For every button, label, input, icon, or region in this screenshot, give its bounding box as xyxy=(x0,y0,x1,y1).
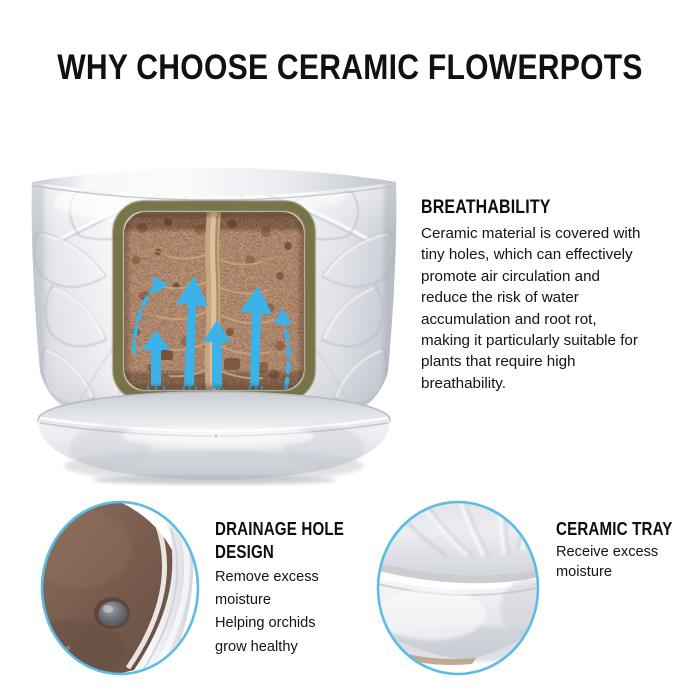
section-breathability: BREATHABILITY Ceramic material is covere… xyxy=(421,197,649,394)
drainage-body-line-2: moisture xyxy=(215,590,365,610)
drainage-body-line-3: Helping orchids xyxy=(215,613,365,633)
section-tray: CERAMIC TRAY Receive excess moisture xyxy=(556,518,698,582)
breathability-body: Ceramic material is covered with tiny ho… xyxy=(421,223,649,394)
drainage-body-line-1: Remove excess xyxy=(215,567,365,587)
callout-ceramic-tray xyxy=(372,498,544,678)
drainage-hole-glyph xyxy=(94,597,130,629)
tray-body-line-1: Receive excess xyxy=(556,542,698,562)
section-drainage: DRAINAGE HOLE DESIGN Remove excess moist… xyxy=(215,518,365,657)
tray-body-line-2: moisture xyxy=(556,562,698,582)
soil-cutaway-window xyxy=(118,206,310,396)
drainage-body-line-4: grow healthy xyxy=(215,637,365,657)
drainage-heading: DRAINAGE HOLE DESIGN xyxy=(215,518,365,564)
tray-heading: CERAMIC TRAY xyxy=(556,518,675,540)
callout-drainage-hole xyxy=(38,498,203,678)
breathability-heading: BREATHABILITY xyxy=(421,197,613,219)
hero-product-image xyxy=(18,136,410,486)
infographic-page: WHY CHOOSE CERAMIC FLOWERPOTS xyxy=(0,0,700,700)
ceramic-saucer xyxy=(38,392,390,485)
page-title: WHY CHOOSE CERAMIC FLOWERPOTS xyxy=(49,48,651,88)
